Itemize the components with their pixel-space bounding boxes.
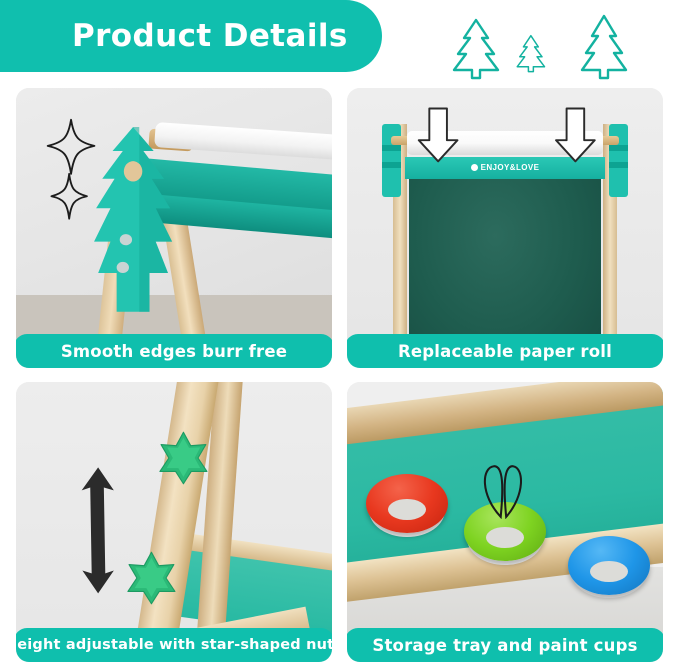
down-arrow-group [347,105,663,167]
up-down-arrow-icon [76,466,120,595]
panel-storage-tray-photo [347,382,663,662]
panel-storage-tray[interactable]: Storage tray and paint cups [347,382,663,662]
pine-tree-icon [517,36,544,72]
pine-tree-decoration-group [452,14,652,80]
product-detail-grid: E Smooth edges burr free [16,88,663,662]
cup-well [388,499,426,520]
cup-well [590,561,628,582]
page-title: Product Details [72,21,348,52]
panel-smooth-edges-photo: E [16,88,332,368]
down-arrow-icon [419,108,458,161]
blue-paint-cup [568,536,650,595]
panel-smooth-edges-caption: Smooth edges burr free [16,334,332,368]
cup-well [486,527,524,548]
knob-hole [124,161,142,181]
star-shaped-nut [123,550,180,606]
panel-height-adjustable-photo [16,382,332,662]
panel-height-adjustable-caption: Height adjustable with star-shaped nuts [16,628,332,662]
panel-paper-roll-caption: Replaceable paper roll [347,334,663,368]
star-shaped-nut [155,430,212,486]
panel-height-adjustable[interactable]: Height adjustable with star-shaped nuts [16,382,332,662]
screw-head [120,234,132,245]
pine-tree-icon [582,16,626,78]
antenna-icon [461,458,543,520]
page-header: Product Details [0,0,679,88]
panel-paper-roll[interactable]: ENJOY&LOVE Replaceable paper roll [347,88,663,368]
panel-paper-roll-photo: ENJOY&LOVE [347,88,663,368]
down-arrow-icon [556,108,595,161]
screw-head [116,262,128,273]
sparkle-group [35,116,111,228]
header-banner: Product Details [0,0,382,72]
panel-smooth-edges[interactable]: E Smooth edges burr free [16,88,332,368]
sparkle-icon [48,120,95,174]
panel-storage-tray-caption: Storage tray and paint cups [347,628,663,662]
pine-tree-icon [454,20,498,78]
sparkle-icon [51,174,86,219]
red-paint-cup [366,474,448,533]
